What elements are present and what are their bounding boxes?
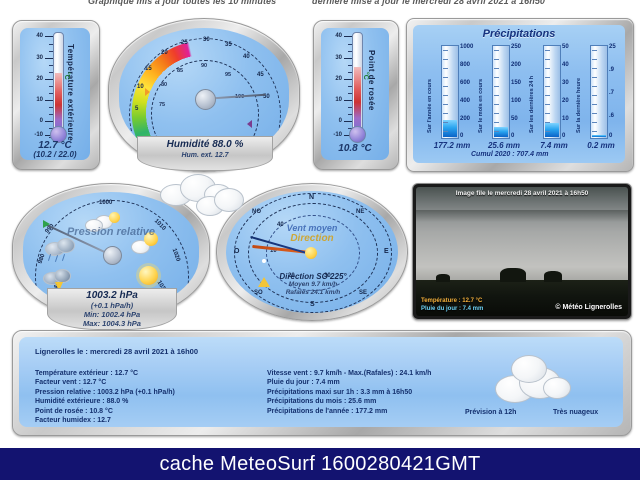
header-right-text: dernière mise à jour le mercredi 28 avri… <box>312 0 545 6</box>
barometer-value: 1003.2 hPa <box>48 290 176 301</box>
footer-bar: cache MeteoSurf 1600280421GMT <box>0 448 640 480</box>
header-left-text: Graphique mis à jour toutes les 10 minut… <box>88 0 276 6</box>
precip-tick-3-1: .9 <box>609 67 614 73</box>
hum-in-tick-0: 75 <box>159 102 165 108</box>
humidity-subcaption: Hum. ext. 12.7 <box>138 152 272 159</box>
barometer-caption-plate: 1003.2 hPa (+0.1 hPa/h) Min: 1002.4 hPa … <box>47 288 177 330</box>
precip-tick-0-2: 600 <box>460 80 470 86</box>
dew-point-unit: °C <box>362 72 369 80</box>
precip-tick-0-3: 400 <box>460 98 470 104</box>
tm-out-lab-1: 30 <box>36 55 43 61</box>
wind-caption-block: Direction SO 225° Moyen 9.7 km/h Rafales… <box>261 272 365 302</box>
precip-tick-1-3: 100 <box>511 98 521 104</box>
precip-tick-1-1: 200 <box>511 62 521 68</box>
webcam-tree-1 <box>500 268 526 282</box>
summary-right-line-0: Vitesse vent : 9.7 km/h - Max.(Rafales) … <box>267 369 431 378</box>
summary-left-line-1: Facteur vent : 12.7 °C <box>35 378 175 387</box>
webcam-temp-overlay: Température : 12.7 °C <box>421 298 482 304</box>
weather-dashboard: Graphique mis à jour toutes les 10 minut… <box>0 0 640 480</box>
summary-face: Lignerolles le : mercredi 28 avril 2021 … <box>19 337 623 427</box>
outdoor-temperature-panel: 40 30 20 10 0 -10 <box>12 20 100 170</box>
hum-in-tick-2: 85 <box>177 68 183 74</box>
baro-tick-2: 1000 <box>99 200 112 206</box>
barometer-trend-marker <box>43 220 50 228</box>
summary-right-column: Vitesse vent : 9.7 km/h - Max.(Rafales) … <box>267 369 431 416</box>
wind-gust: Rafales 24.1 km/h <box>261 289 365 296</box>
wind-overlay-line1: Vent moyen <box>226 223 398 233</box>
summary-right-line-1: Pluie du jour : 7.4 mm <box>267 378 431 387</box>
hum-out-tick-1: 10 <box>137 84 144 90</box>
summary-right-line-2: Précipitations maxi sur 1h : 3.3 mm à 16… <box>267 388 431 397</box>
tm-dew-lab-4: 0 <box>339 118 342 124</box>
precip-tick-2-2: 30 <box>562 80 569 86</box>
hum-out-tick-7: 40 <box>243 54 250 60</box>
summary-panel: Lignerolles le : mercredi 28 avril 2021 … <box>12 330 632 436</box>
outdoor-temperature-tube <box>53 32 64 132</box>
outdoor-temperature-unit: °C <box>63 72 70 80</box>
tm-dew-lab-1: 30 <box>335 55 342 61</box>
tm-out-lab-2: 20 <box>36 76 43 82</box>
precipitation-panel: Précipitations Sur l'année en cours 1000… <box>406 18 634 172</box>
humidity-min-marker <box>145 88 150 96</box>
precip-tick-2-0: 50 <box>562 44 569 50</box>
compass-s: S <box>310 301 315 308</box>
summary-left-line-0: Température extérieur : 12.7 °C <box>35 369 175 378</box>
precip-tick-1-0: 250 <box>511 44 521 50</box>
precip-tick-2-3: 20 <box>562 98 569 104</box>
webcam-copyright: © Météo Lignerolles <box>555 304 622 311</box>
webcam-header: Image file le mercredi 28 avril 2021 à 1… <box>416 190 628 197</box>
tm-dew-lab-2: 20 <box>335 76 342 82</box>
tm-dew-lab-5: -10 <box>333 132 342 138</box>
summary-left-line-3: Humidité extérieure : 88.0 % <box>35 397 175 406</box>
webcam-sky <box>416 187 628 280</box>
precip-sub-1: Cumul 2020 : 707.4 mm <box>471 151 548 158</box>
dew-point-value: 10.8 °C <box>321 143 389 154</box>
dew-point-tube <box>352 32 363 132</box>
webcam-tree-2 <box>544 271 562 282</box>
webcam-cloud-band <box>416 210 628 222</box>
summary-left-line-5: Facteur humidex : 12.7 <box>35 416 175 425</box>
dew-point-bulb <box>349 126 366 143</box>
summary-left-line-4: Point de rosée : 10.8 °C <box>35 407 175 416</box>
precip-tick-1-5: 0 <box>511 133 514 139</box>
humidity-caption-plate: Humidité 88.0 % Hum. ext. 12.7 <box>137 136 273 171</box>
precip-tick-3-4: 0 <box>609 133 612 139</box>
humidity-gauge-panel: 5 10 15 20 25 30 35 40 45 50 75 80 85 90… <box>108 18 300 172</box>
tm-dew-lab-0: 40 <box>335 33 342 39</box>
wind-caption: Direction SO 225° <box>261 272 365 281</box>
forecast-text: Très nuageux <box>553 409 598 416</box>
wind-mean: Moyen 9.7 km/h <box>261 281 365 288</box>
summary-left-column: Température extérieur : 12.7 °C Facteur … <box>35 369 175 425</box>
dew-point-face: 40 30 20 10 0 -10 <box>321 28 389 160</box>
tm-dew-lab-3: 10 <box>335 97 342 103</box>
hum-out-tick-3: 20 <box>161 50 168 56</box>
tm-out-lab-3: 10 <box>36 97 43 103</box>
precip-tick-0-4: 200 <box>460 116 470 122</box>
webcam-rain-overlay: Pluie du jour : 7.4 mm <box>421 306 483 312</box>
precip-axis-2: Sur les dernières 24 h <box>529 47 535 133</box>
compass-n: N <box>309 194 314 201</box>
wind-min-dot <box>262 259 266 263</box>
summary-left-line-2: Pression relative : 1003.2 hPa (+0.1 hPa… <box>35 388 175 397</box>
precip-axis-1: Sur le mois en cours <box>478 47 484 133</box>
precip-tick-3-0: 25 <box>609 44 616 50</box>
hum-in-tick-4: 95 <box>225 72 231 78</box>
precip-tick-3-2: .7 <box>609 90 614 96</box>
barometer-trend: (+0.1 hPa/h) <box>48 301 176 310</box>
wind-compass-panel: N NE E SE S SO O NO 10 20 30 40 Vent moy… <box>216 183 408 321</box>
hum-out-tick-6: 35 <box>225 42 232 48</box>
hum-out-tick-8: 45 <box>257 72 264 78</box>
dew-point-panel: 40 30 20 10 0 -10 <box>313 20 399 170</box>
precip-tick-0-1: 800 <box>460 62 470 68</box>
tm-out-lab-0: 40 <box>36 33 43 39</box>
hum-out-tick-0: 5 <box>135 106 138 112</box>
summary-right-line-4: Précipitations de l'année : 177.2 mm <box>267 407 431 416</box>
precip-tick-2-4: 10 <box>562 116 569 122</box>
barometer-hub <box>103 246 122 265</box>
precip-tick-0-0: 1000 <box>460 44 473 50</box>
precip-axis-0: Sur l'année en cours <box>427 47 433 133</box>
outdoor-temperature-title: Température extérieure <box>66 44 75 141</box>
precipitation-face: Précipitations Sur l'année en cours 1000… <box>413 25 625 163</box>
hum-out-tick-4: 25 <box>181 40 188 46</box>
precip-tick-2-5: 0 <box>562 133 565 139</box>
compass-no: NO <box>252 209 261 215</box>
summary-right-line-3: Précipitations du mois : 25.6 mm <box>267 397 431 406</box>
footer-text: cache MeteoSurf 1600280421GMT <box>159 453 480 476</box>
compass-ne: NE <box>356 209 364 215</box>
compass-o: O <box>234 248 239 255</box>
humidity-caption: Humidité 88.0 % <box>138 139 272 150</box>
precip-tick-0-5: 0 <box>460 133 463 139</box>
summary-datetime: Lignerolles le : mercredi 28 avril 2021 … <box>35 347 198 356</box>
hum-out-tick-2: 15 <box>145 66 152 72</box>
precipitation-title: Précipitations <box>413 28 625 40</box>
compass-e: E <box>384 248 389 255</box>
precip-tick-1-2: 150 <box>511 80 521 86</box>
hum-in-tick-1: 80 <box>161 82 167 88</box>
humidity-max-marker <box>247 120 252 128</box>
precip-tick-2-1: 40 <box>562 62 569 68</box>
hum-out-tick-5: 30 <box>203 37 210 43</box>
precip-tick-1-4: 50 <box>511 116 518 122</box>
tm-out-lab-4: 0 <box>40 118 43 124</box>
webcam-panel[interactable]: Image file le mercredi 28 avril 2021 à 1… <box>412 183 632 320</box>
tm-out-lab-5: -10 <box>34 132 43 138</box>
precip-value-3: 0.2 mm <box>573 141 625 150</box>
barometer-max: Max: 1004.3 hPa <box>48 319 176 328</box>
wind-hub <box>305 247 317 259</box>
precip-tick-3-3: .6 <box>609 113 614 119</box>
forecast-label: Prévision à 12h <box>465 409 516 416</box>
humidity-hub <box>195 89 216 110</box>
outdoor-temperature-minmax: (10.2 / 22.0) <box>20 150 90 159</box>
webcam-image: Image file le mercredi 28 avril 2021 à 1… <box>416 187 628 316</box>
hum-in-tick-3: 90 <box>201 63 207 69</box>
sun-icon <box>139 266 158 285</box>
outdoor-temperature-face: 40 30 20 10 0 -10 <box>20 28 90 160</box>
dew-point-title: Point de rosée <box>367 50 376 111</box>
precip-axis-3: Sur la dernière heure <box>576 47 582 133</box>
barometer-min: Min: 1002.4 hPa <box>48 310 176 319</box>
webcam-tree-3 <box>436 274 450 282</box>
